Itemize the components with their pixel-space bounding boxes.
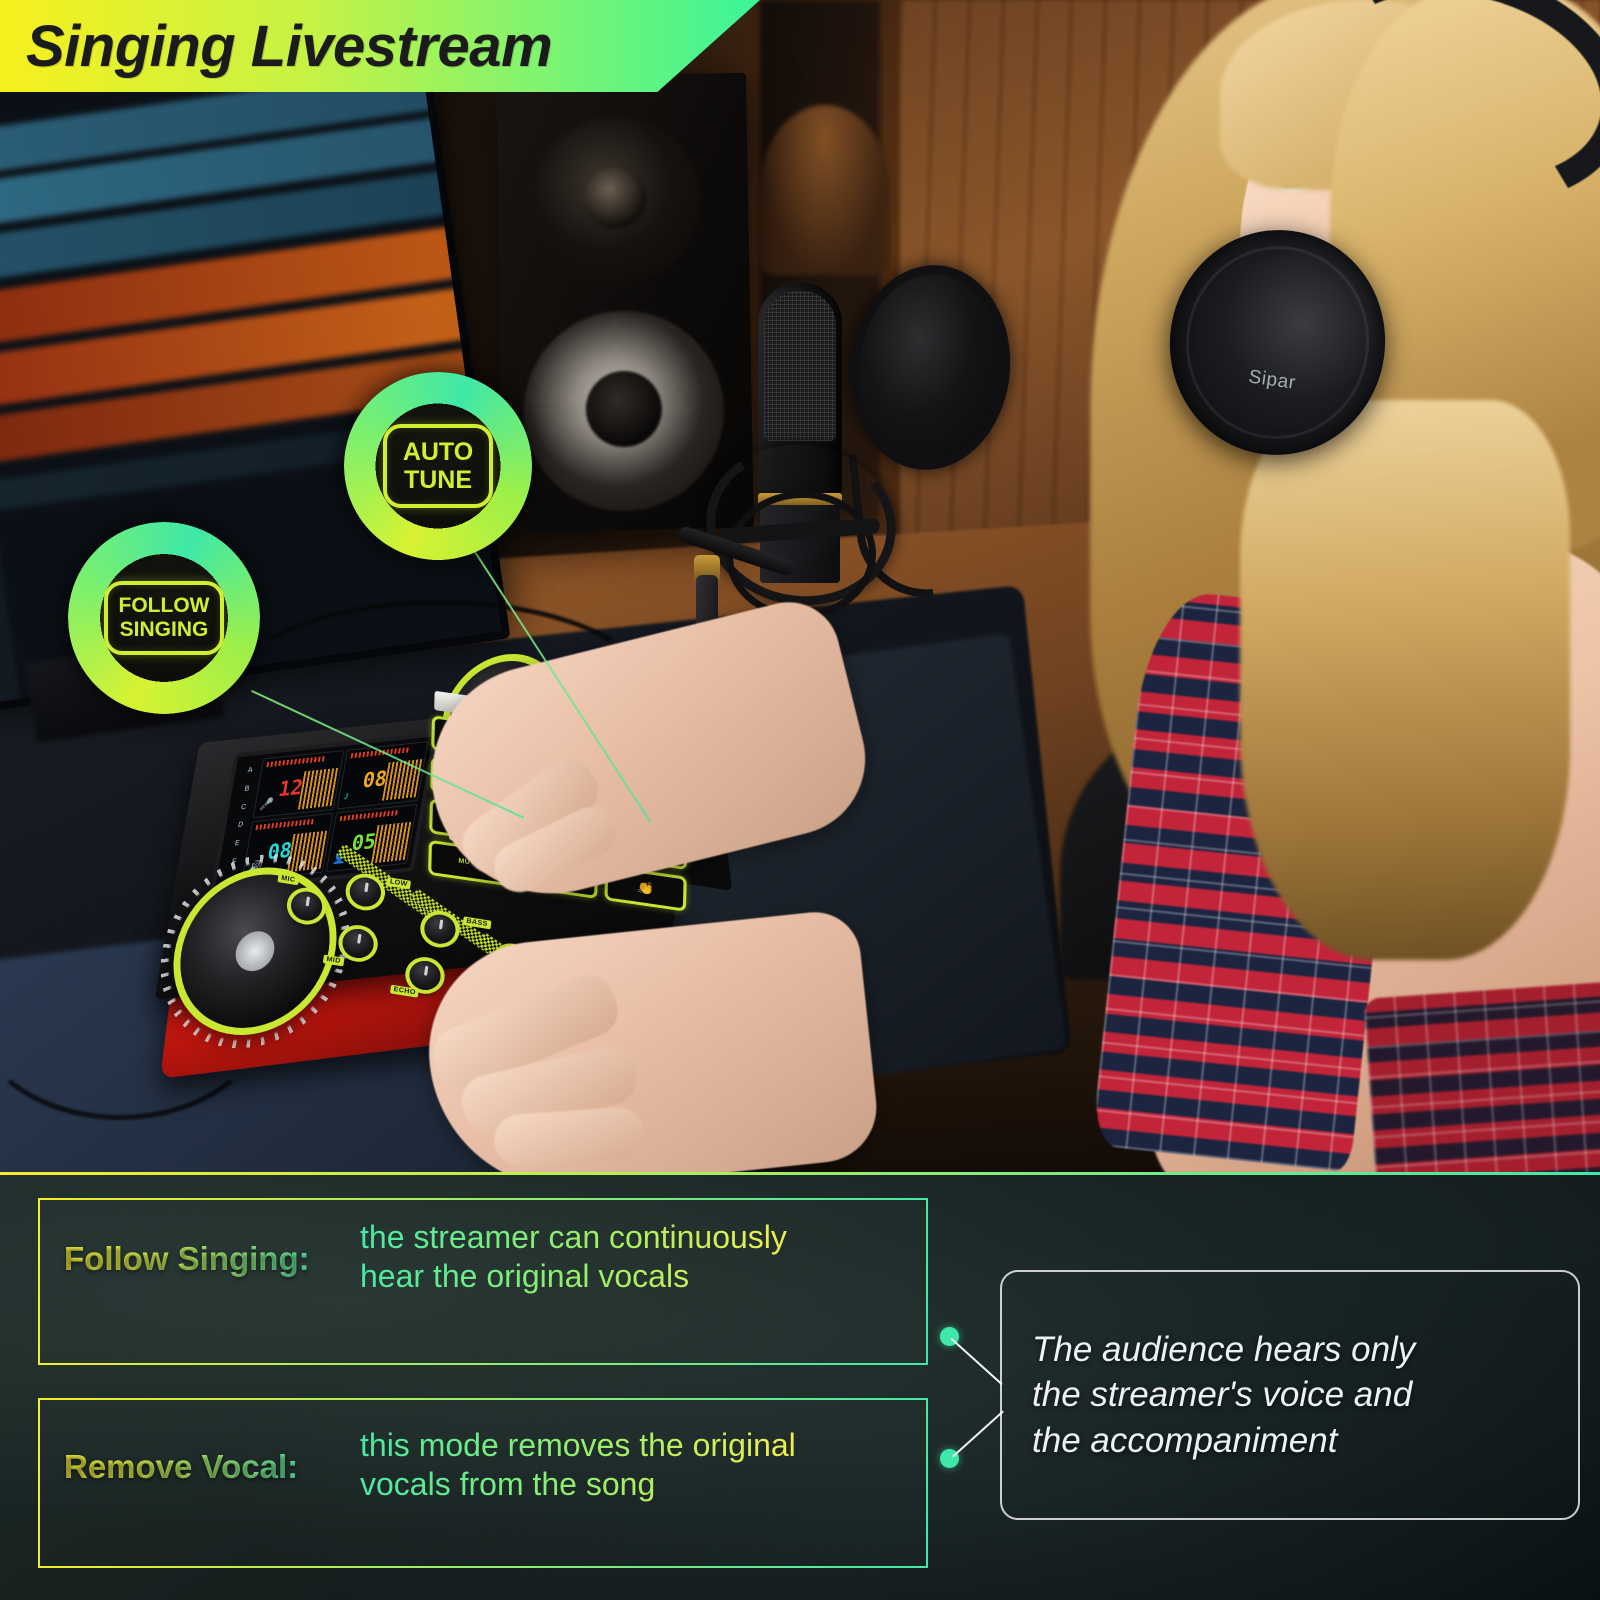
feature-label-follow-singing: Follow Singing: [64, 1240, 310, 1278]
lcd-meter-top [255, 819, 314, 830]
lcd-letter: C [240, 803, 247, 811]
studio-photo: Sipar A B C D E F G 🎤 [0, 0, 1600, 1174]
badge-auto-tune[interactable]: AUTO TUNE [344, 372, 532, 560]
badge-auto-tune-line1: AUTO [403, 438, 473, 466]
hair-long [1240, 400, 1570, 960]
badge-auto-tune-line2: TUNE [403, 466, 473, 494]
lcd-letter: B [244, 785, 250, 793]
badge-follow-singing-line2: SINGING [119, 618, 210, 642]
audience-note-line3: the accompaniment [1032, 1418, 1415, 1464]
feature-text-remove-vocal-line1: this mode removes the original [360, 1426, 796, 1465]
badge-follow-singing-line1: FOLLOW [119, 594, 210, 618]
audience-note-line2: the streamer's voice and [1032, 1372, 1415, 1418]
feature-label-remove-vocal: Remove Vocal: [64, 1448, 298, 1486]
feature-text-follow-singing-line1: the streamer can continuously [360, 1218, 787, 1257]
lcd-spectrum [371, 822, 411, 864]
badge-follow-singing[interactable]: FOLLOW SINGING [68, 522, 260, 714]
headphone-brand-label: Sipar [1247, 366, 1297, 394]
title-banner: Singing Livestream [0, 0, 760, 92]
microphone-grille [764, 291, 836, 441]
lcd-letter: A [247, 767, 253, 775]
lcd-letter: D [237, 822, 244, 830]
feature-text-follow-singing-line2: hear the original vocals [360, 1257, 787, 1296]
music-note-icon: ♪ [343, 790, 351, 803]
lcd-cell: 🎤 12 [253, 750, 345, 818]
finger [492, 1106, 645, 1168]
page-title: Singing Livestream [26, 13, 552, 80]
lcd-meter-top [266, 756, 325, 767]
knob-label-mid: MID [323, 955, 344, 967]
lcd-spectrum [382, 759, 422, 801]
streamer-person: Sipar [940, 0, 1600, 1174]
audience-note-panel: The audience hears only the streamer's v… [1000, 1270, 1580, 1520]
lcd-letter: E [234, 840, 240, 848]
lcd-spectrum [298, 768, 338, 810]
feature-panel-remove-vocal: Remove Vocal: this mode removes the orig… [38, 1398, 928, 1568]
knob-label-mic: MIC [277, 873, 298, 885]
stool [760, 105, 890, 275]
audience-note-line1: The audience hears only [1032, 1327, 1415, 1373]
knob-mic[interactable] [289, 889, 324, 922]
badge-follow-singing-inner: FOLLOW SINGING [104, 581, 225, 654]
badge-auto-tune-inner: AUTO TUNE [383, 424, 493, 508]
knob-mid[interactable] [341, 927, 376, 960]
feature-text-remove-vocal-line2: vocals from the song [360, 1465, 796, 1504]
lcd-meter-top [340, 810, 399, 821]
mic-icon: 🎤 [259, 797, 275, 812]
feature-panel-follow-singing: Follow Singing: the streamer can continu… [38, 1198, 928, 1365]
product-feature-graphic: Sipar A B C D E F G 🎤 [0, 0, 1600, 1600]
plaid-skirt [1363, 982, 1600, 1174]
